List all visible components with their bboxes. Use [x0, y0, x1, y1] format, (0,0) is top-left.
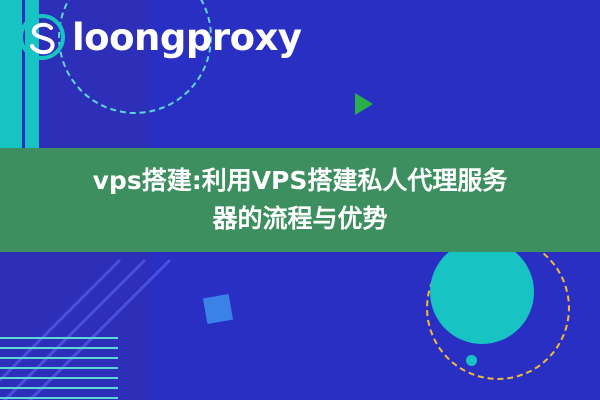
logo: loongproxy	[18, 9, 301, 65]
square-decoration	[203, 294, 233, 324]
swirl-s-icon	[18, 13, 66, 61]
page-title-line-2: 器的流程与优势	[212, 200, 387, 238]
teal-circle-decoration	[430, 240, 534, 344]
title-band: vps搭建:利用VPS搭建私人代理服务 器的流程与优势	[0, 148, 600, 252]
bottom-stripes-decoration	[0, 330, 120, 400]
triangle-right-icon	[355, 93, 373, 115]
dot-decoration	[466, 355, 477, 366]
page-title-line-1: vps搭建:利用VPS搭建私人代理服务	[93, 162, 508, 200]
banner: loongproxy vps搭建:利用VPS搭建私人代理服务 器的流程与优势	[0, 0, 600, 400]
logo-text: loongproxy	[72, 19, 301, 56]
